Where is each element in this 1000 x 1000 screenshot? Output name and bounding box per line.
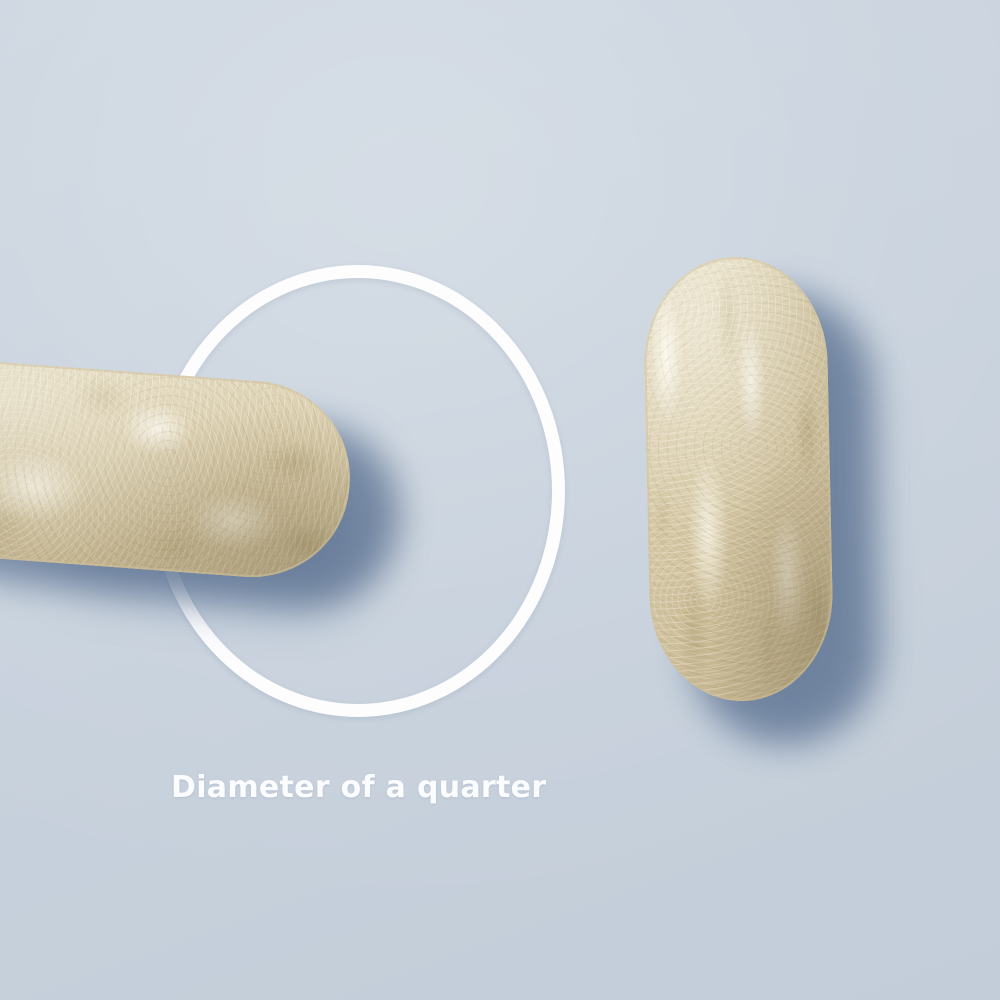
tablet-vertical bbox=[642, 255, 834, 703]
caption-text: Diameter of a quarter bbox=[171, 773, 546, 803]
tablet-horizontal bbox=[0, 354, 357, 584]
tablet-vertical-rim bbox=[642, 255, 834, 703]
product-photo-scene: Diameter of a quarter bbox=[0, 0, 1000, 1000]
